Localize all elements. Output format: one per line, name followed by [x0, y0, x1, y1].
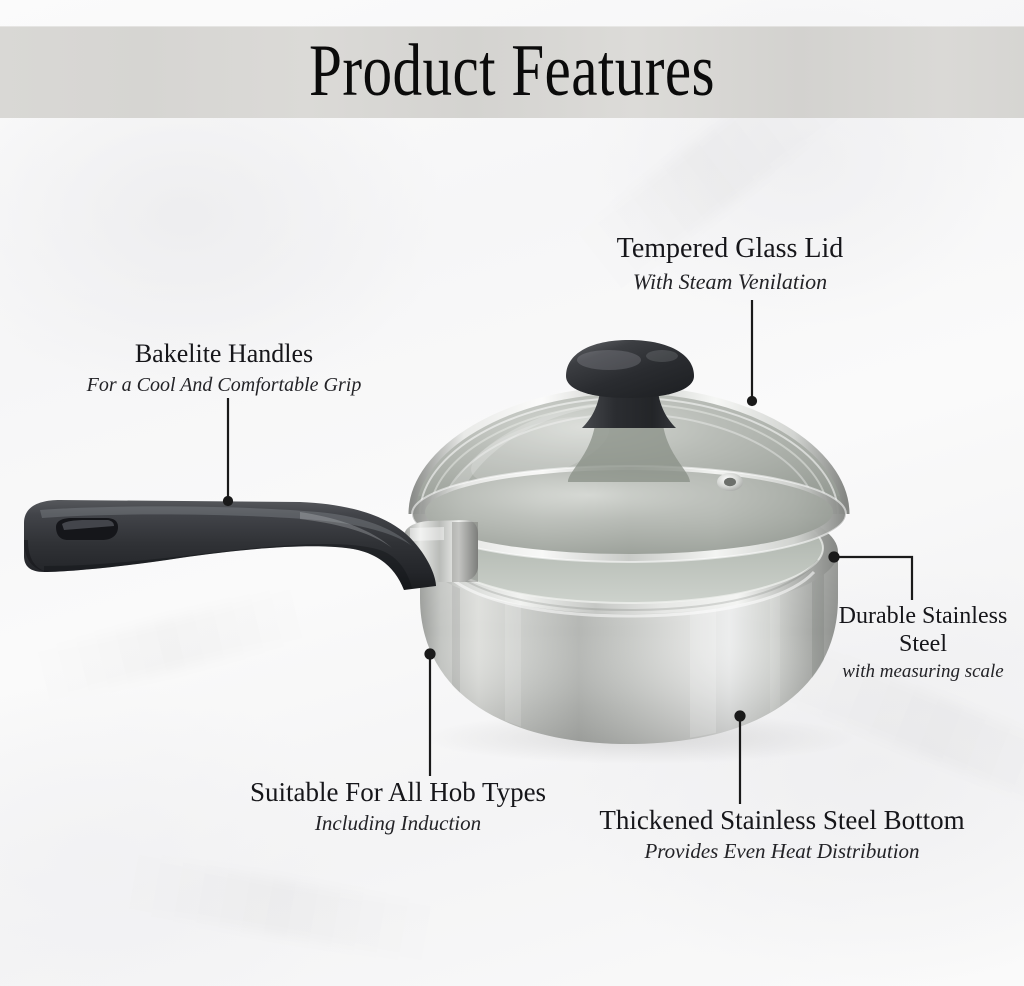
lid-knob-group	[566, 340, 694, 482]
callout-subtitle: Provides Even Heat Distribution	[556, 838, 1008, 865]
knob-stem-through-glass	[568, 412, 690, 482]
callout-durable-stainless-steel: Durable Stainless Steel with measuring s…	[832, 602, 1014, 683]
pot-base-rim-line	[424, 672, 834, 744]
handle-body	[24, 500, 436, 590]
glass-lid-flange-inner	[425, 470, 833, 554]
leader-dot-handles	[224, 497, 232, 505]
handle-bottom-shade	[44, 544, 412, 590]
pot-rim-inner	[435, 493, 823, 603]
pot-rim-inner-edge	[435, 493, 823, 603]
glass-lid-rim	[412, 390, 846, 514]
steam-vent-icon	[717, 473, 743, 491]
handle-top-highlight	[40, 506, 412, 546]
handle-sheen	[300, 512, 392, 548]
callout-tempered-glass-lid: Tempered Glass Lid With Steam Venilation	[548, 232, 912, 296]
glass-lid-dome	[412, 390, 846, 514]
handle-hanging-hole-highlight	[62, 520, 114, 530]
handle-hanging-hole	[56, 518, 118, 540]
handle-bracket-shadow	[452, 522, 478, 582]
pot-body	[420, 552, 838, 744]
handle-bracket-highlight	[410, 527, 444, 541]
glass-lid-flange-edge	[412, 466, 846, 562]
callout-title: Durable Stainless Steel	[832, 602, 1014, 658]
infographic-page: Product Features	[0, 0, 1024, 986]
product-shadow	[425, 712, 855, 764]
page-title: Product Features	[102, 28, 921, 114]
pot-body-group	[420, 552, 838, 752]
pot-rim-outer	[420, 490, 838, 614]
glass-lid-rim-inner	[420, 398, 838, 514]
leader-dot-lid	[748, 397, 756, 405]
pot-rim-group	[420, 490, 838, 616]
glass-lid-group	[412, 390, 846, 562]
callout-suitable-all-hob-types: Suitable For All Hob Types Including Ind…	[208, 776, 588, 837]
knob-cap-highlight	[577, 350, 641, 370]
leader-line-steel	[836, 557, 912, 600]
callout-subtitle: With Steam Venilation	[548, 268, 912, 296]
handle-left-cap-shadow	[24, 540, 44, 571]
callout-title: Thickened Stainless Steel Bottom	[556, 804, 1008, 837]
knob-cap-highlight-2	[646, 350, 678, 362]
handle-bracket	[404, 520, 478, 582]
callout-subtitle: Including Induction	[208, 810, 588, 837]
knob-cap	[566, 340, 694, 398]
callout-thickened-bottom: Thickened Stainless Steel Bottom Provide…	[556, 804, 1008, 865]
steam-vent-hole-icon	[724, 478, 736, 486]
knob-stem	[582, 378, 676, 428]
leader-dot-bottom	[736, 712, 745, 721]
handle-group	[24, 500, 478, 590]
glass-lid-flange	[412, 466, 846, 562]
background-vein	[28, 587, 312, 703]
pot-rim-lowlight	[440, 560, 818, 610]
callout-subtitle: For a Cool And Comfortable Grip	[38, 372, 410, 398]
callout-subtitle: with measuring scale	[832, 660, 1014, 683]
callout-title: Bakelite Handles	[38, 338, 410, 370]
pot-base-rim-shadow	[424, 680, 834, 752]
callout-title: Tempered Glass Lid	[548, 232, 912, 266]
background-vein	[118, 853, 443, 963]
callout-bakelite-handles: Bakelite Handles For a Cool And Comforta…	[38, 338, 410, 398]
pot-body-shading	[420, 552, 838, 744]
leader-dot-hob	[426, 650, 435, 659]
leader-dot-steel	[830, 553, 839, 562]
pot-rim-highlight	[444, 572, 814, 616]
callout-title: Suitable For All Hob Types	[208, 776, 588, 809]
